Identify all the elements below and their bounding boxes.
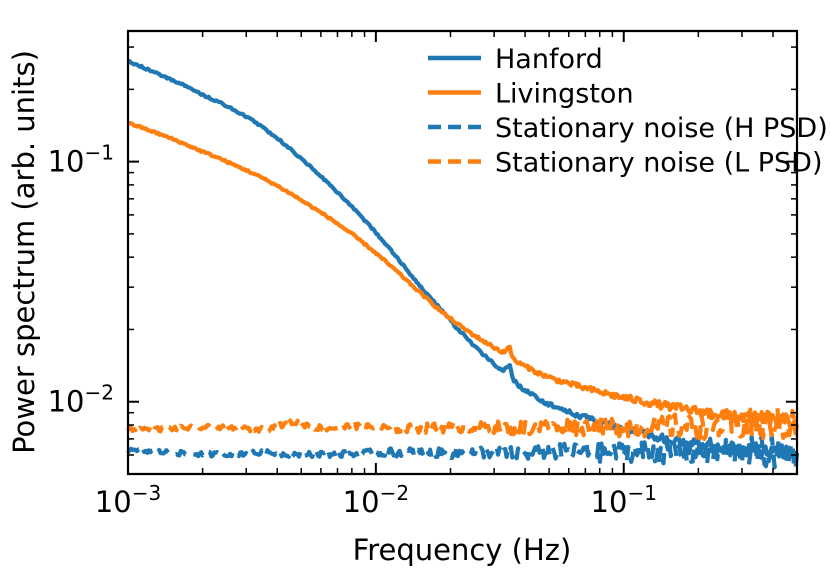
legend-label-livingston: Livingston [495,79,634,110]
y-tick-label: 10−1 [48,141,114,179]
legend-label-stationary-noise-l-psd: Stationary noise (L PSD) [495,148,823,179]
chart-legend: HanfordLivingstonStationary noise (H PSD… [428,44,828,179]
y-tick-label: 10−2 [48,381,114,419]
x-tick-label: 10−3 [95,481,161,519]
x-axis-label: Frequency (Hz) [353,533,572,567]
tick-labels-layer: 10−310−210−110−110−2 [48,141,657,519]
x-tick-label: 10−2 [343,481,409,519]
x-tick-label: 10−1 [591,481,657,519]
legend-label-hanford: Hanford [495,44,603,75]
series-stationary-noise-h-psd [128,436,797,470]
figure-canvas: 10−310−210−110−110−2 Frequency (Hz) Powe… [0,0,830,581]
y-axis-label: Power spectrum (arb. units) [7,50,41,454]
power-spectrum-chart: 10−310−210−110−110−2 Frequency (Hz) Powe… [0,0,830,581]
legend-label-stationary-noise-h-psd: Stationary noise (H PSD) [495,113,828,144]
